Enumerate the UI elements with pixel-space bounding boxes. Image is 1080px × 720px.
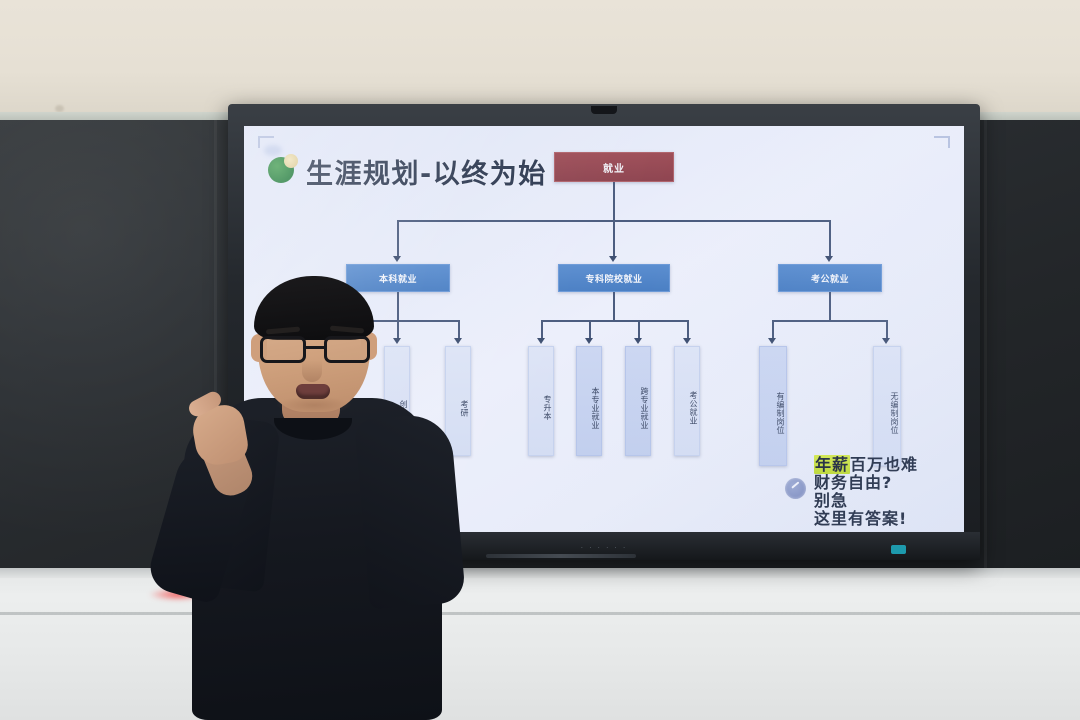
connector-drop-3 <box>829 220 831 258</box>
presenter-shoulder-right <box>354 412 466 610</box>
leaf-b2-4[interactable]: 考公就业 <box>674 346 700 456</box>
annotation-line-2: 财务自由? <box>814 474 918 492</box>
glasses-lens-left <box>260 336 306 363</box>
arrow-b3-1 <box>768 338 776 344</box>
pencil-circle-icon <box>785 478 806 499</box>
logo-segment <box>284 154 298 168</box>
arrow-lvl2-1 <box>393 256 401 262</box>
annotation-text: 年薪百万也难 财务自由? 别急 这里有答案! <box>814 456 918 528</box>
slide-corner-mark-right <box>934 136 950 148</box>
glasses-bridge <box>306 346 324 349</box>
arrow-b2-2 <box>585 338 593 344</box>
connector-b2-bus <box>541 320 687 322</box>
annotation-highlight: 年薪 <box>814 455 850 474</box>
connector-b2-stem <box>613 292 615 320</box>
presenter <box>150 268 480 720</box>
connector-drop-2 <box>613 220 615 258</box>
leaf-b3-1[interactable]: 有编制岗位 <box>759 346 787 466</box>
node-branch-2[interactable]: 专科院校就业 <box>558 264 670 292</box>
connector-drop-1 <box>397 220 399 258</box>
classroom-scene: 生涯规划-以终为始 就业 本科就业 专科院校就业 考公就业 <box>0 0 1080 720</box>
connector-b3-drop-2 <box>886 320 888 340</box>
display-brand-strip: · · · · · · <box>581 544 627 552</box>
annotation-line-1: 年薪百万也难 <box>814 456 918 474</box>
annotation-line-3: 别急 <box>814 492 918 510</box>
glasses-lens-right <box>324 336 370 363</box>
slide-title: 生涯规划-以终为始 <box>306 152 547 191</box>
connector-b2-drop-4 <box>687 320 689 340</box>
connector-b3-stem <box>829 292 831 320</box>
arrow-b2-4 <box>683 338 691 344</box>
leaf-b2-2[interactable]: 本专业就业 <box>576 346 602 456</box>
connector-b2-drop-2 <box>589 320 591 340</box>
connector-b2-drop-1 <box>541 320 543 340</box>
connector-b3-bus <box>772 320 886 322</box>
annotation-line-1-rest: 百万也难 <box>850 455 918 474</box>
ir-sensor-bar <box>486 554 636 558</box>
arrow-b2-1 <box>537 338 545 344</box>
wall-speck <box>55 105 64 112</box>
node-branch-3[interactable]: 考公就业 <box>778 264 882 292</box>
leaf-b2-1[interactable]: 专升本 <box>528 346 554 456</box>
camera-nub <box>591 106 617 114</box>
presenter-nose <box>302 360 322 382</box>
blackboard-seam-right <box>984 120 987 570</box>
power-indicator[interactable] <box>891 545 906 554</box>
connector-b3-drop-1 <box>772 320 774 340</box>
connector-b2-drop-3 <box>638 320 640 340</box>
arrow-b3-2 <box>882 338 890 344</box>
annotation-line-4: 这里有答案! <box>814 510 918 528</box>
arrow-lvl2-3 <box>825 256 833 262</box>
connector-root-stem <box>613 182 615 220</box>
arrow-b2-3 <box>634 338 642 344</box>
arrow-lvl2-2 <box>609 256 617 262</box>
leaf-b2-3[interactable]: 跨专业就业 <box>625 346 651 456</box>
presenter-chin-shadow <box>276 396 352 414</box>
logo-halo <box>264 145 282 156</box>
leaf-b3-2[interactable]: 无编制岗位 <box>873 346 901 466</box>
upper-wall <box>0 0 1080 118</box>
node-root[interactable]: 就业 <box>554 152 674 182</box>
green-circle-logo <box>268 154 298 184</box>
